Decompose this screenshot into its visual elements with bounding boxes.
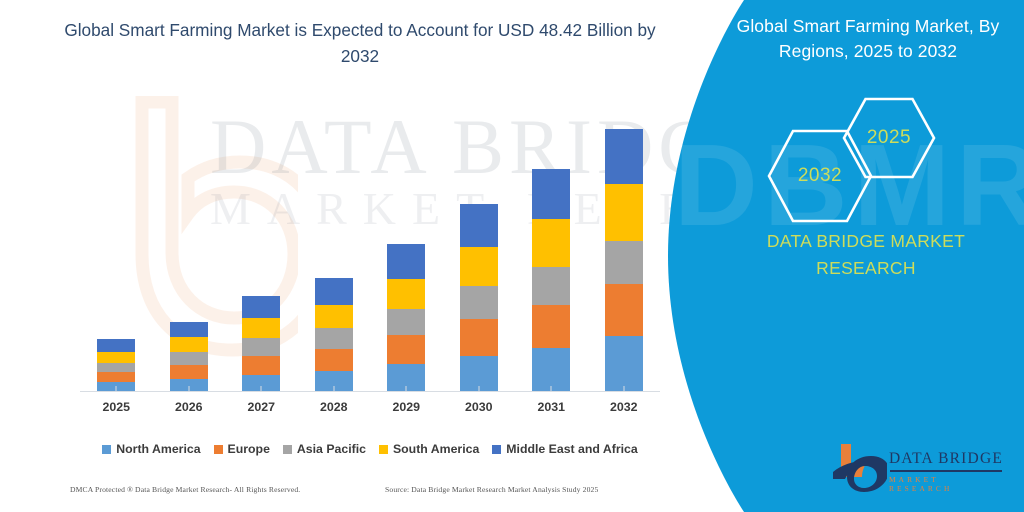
x-axis-label: 2030 (459, 400, 499, 420)
chart-area: Global Smart Farming Market is Expected … (0, 0, 700, 512)
hexagon-2032: 2032 (766, 128, 874, 224)
page-title: Global Smart Farming Market is Expected … (50, 18, 670, 70)
legend-swatch (102, 445, 111, 454)
legend-label: Europe (228, 442, 270, 456)
bar-segment (387, 335, 425, 364)
bar-segment (97, 372, 135, 382)
x-axis-tick (116, 386, 117, 392)
bar-segment (387, 309, 425, 335)
x-axis-tick (261, 386, 262, 392)
x-axis-label: 2028 (314, 400, 354, 420)
x-axis-label: 2027 (241, 400, 281, 420)
bar-segment (605, 129, 643, 184)
legend-swatch (214, 445, 223, 454)
bar-segment (242, 296, 280, 318)
bar-column (604, 100, 644, 391)
bar-segment (387, 244, 425, 279)
bar-column (96, 100, 136, 391)
x-axis-label: 2032 (604, 400, 644, 420)
bar-segment (460, 247, 498, 286)
bar-segment (460, 204, 498, 247)
dbmr-logo-name: DATA BRIDGE (889, 450, 1006, 468)
legend-item[interactable]: Asia Pacific (283, 442, 366, 456)
panel-brand-line-2: RESEARCH (716, 255, 1016, 282)
bar-column (386, 100, 426, 391)
legend-item[interactable]: South America (379, 442, 479, 456)
hexagon-group: 2025 2032 (736, 96, 1006, 226)
bar-column (314, 100, 354, 391)
bar-segment (460, 286, 498, 319)
bar-segment (242, 338, 280, 356)
bar-group (80, 100, 660, 391)
legend-label: North America (116, 442, 200, 456)
hexagon-2025-label: 2025 (867, 127, 911, 149)
legend-item[interactable]: North America (102, 442, 200, 456)
x-axis-tick (551, 386, 552, 392)
bar-segment (170, 337, 208, 352)
x-axis-tick (478, 386, 479, 392)
legend-label: Middle East and Africa (506, 442, 637, 456)
dbmr-logo-tagline: MARKET RESEARCH (889, 475, 1006, 493)
x-axis-tick (623, 386, 624, 392)
bar-segment (605, 241, 643, 284)
x-axis-label: 2026 (169, 400, 209, 420)
bar-segment (97, 363, 135, 372)
legend-swatch (283, 445, 292, 454)
bar-segment (97, 352, 135, 363)
dbmr-logo: DATA BRIDGE MARKET RESEARCH (831, 442, 1006, 498)
bar-segment (170, 322, 208, 337)
legend-label: South America (393, 442, 479, 456)
x-axis-label: 2025 (96, 400, 136, 420)
legend-swatch (379, 445, 388, 454)
bar-segment (532, 305, 570, 348)
bar-segment (532, 267, 570, 305)
legend-item[interactable]: Middle East and Africa (492, 442, 637, 456)
bar-segment (605, 184, 643, 241)
panel-brand: DATA BRIDGE MARKET RESEARCH (716, 228, 1016, 282)
bar-column (531, 100, 571, 391)
bar-segment (532, 219, 570, 267)
bar-segment (97, 339, 135, 352)
footer: DMCA Protected ® Data Bridge Market Rese… (0, 485, 700, 507)
bar-segment (315, 305, 353, 328)
bar-segment (532, 348, 570, 391)
bar-segment (532, 169, 570, 219)
bar-segment (387, 279, 425, 309)
bar-column (169, 100, 209, 391)
x-axis-tick (188, 386, 189, 392)
infographic-root: Global Smart Farming Market is Expected … (0, 0, 1024, 512)
bar-segment (605, 336, 643, 391)
x-axis-labels: 20252026202720282029203020312032 (80, 400, 660, 420)
bar-segment (170, 352, 208, 365)
panel-title: Global Smart Farming Market, By Regions,… (722, 14, 1014, 64)
footer-copyright: DMCA Protected ® Data Bridge Market Rese… (70, 485, 300, 494)
bar-column (241, 100, 281, 391)
x-axis-line (80, 391, 660, 392)
right-panel: DBMR Global Smart Farming Market, By Reg… (664, 0, 1024, 512)
legend-item[interactable]: Europe (214, 442, 270, 456)
bar-column (459, 100, 499, 391)
dbmr-logo-text: DATA BRIDGE MARKET RESEARCH (889, 450, 1006, 493)
footer-source: Source: Data Bridge Market Research Mark… (385, 485, 598, 494)
plot-region (80, 100, 660, 392)
x-axis-tick (406, 386, 407, 392)
bar-segment (315, 328, 353, 349)
x-axis-label: 2031 (531, 400, 571, 420)
hexagon-2032-label: 2032 (798, 165, 842, 187)
bar-segment (605, 284, 643, 336)
bar-segment (242, 356, 280, 375)
bar-segment (170, 365, 208, 379)
dbmr-logo-divider (890, 470, 1002, 472)
bar-segment (315, 278, 353, 305)
legend-swatch (492, 445, 501, 454)
bar-segment (242, 318, 280, 338)
bar-segment (315, 349, 353, 371)
x-axis-label: 2029 (386, 400, 426, 420)
bar-segment (460, 319, 498, 356)
dbmr-logo-mark (831, 442, 887, 494)
chart-legend: North AmericaEuropeAsia PacificSouth Ame… (80, 438, 660, 460)
x-axis-tick (333, 386, 334, 392)
legend-label: Asia Pacific (297, 442, 366, 456)
panel-brand-line-1: DATA BRIDGE MARKET (716, 228, 1016, 255)
